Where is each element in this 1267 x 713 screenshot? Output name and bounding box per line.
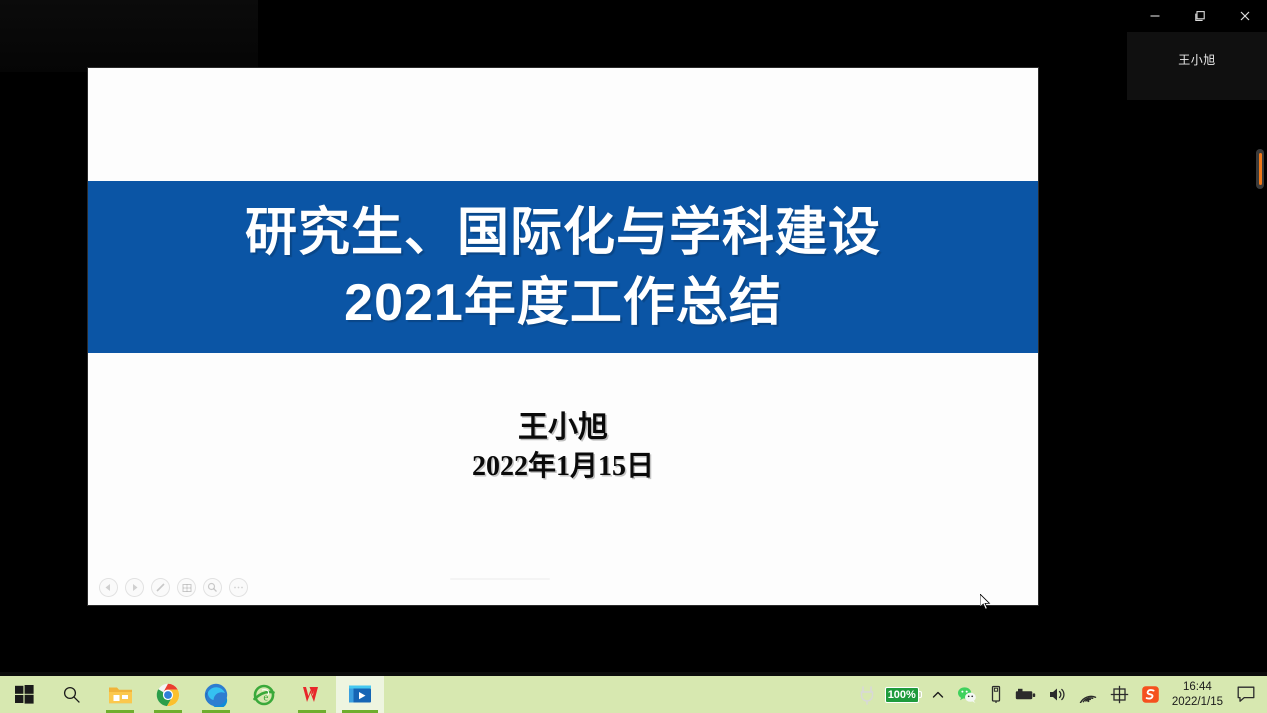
tray-power-plug[interactable] xyxy=(853,676,882,713)
svg-text:e: e xyxy=(263,691,268,703)
speech-bubble-icon xyxy=(1237,686,1255,703)
slideshow-control-bar[interactable] xyxy=(93,574,254,601)
minimize-button[interactable] xyxy=(1132,0,1177,32)
windows-logo-icon xyxy=(15,685,34,704)
ie-icon: e xyxy=(252,683,276,707)
maximize-button[interactable] xyxy=(1177,0,1222,32)
slide-top-whitespace xyxy=(88,68,1038,181)
clock-time: 16:44 xyxy=(1183,680,1212,695)
wifi-icon xyxy=(1079,687,1098,703)
edge-scroll-indicator-fill xyxy=(1259,153,1262,185)
next-slide-button[interactable] xyxy=(125,578,144,597)
search-button[interactable] xyxy=(48,676,96,713)
search-icon xyxy=(62,685,82,705)
pen-tool-button[interactable] xyxy=(151,578,170,597)
ime-chinese-icon xyxy=(1110,685,1129,704)
battery-solid-icon xyxy=(1015,688,1036,702)
tray-show-hidden-icons[interactable] xyxy=(925,676,951,713)
video-panel-titlebar xyxy=(1127,0,1267,32)
tray-battery-status[interactable] xyxy=(1009,676,1042,713)
taskbar-app-media-player[interactable] xyxy=(336,676,384,713)
battery-tip-icon xyxy=(919,691,922,698)
screen-root: 研究生、国际化与学科建设 2021年度工作总结 王小旭 2022年1月15日 xyxy=(0,0,1267,713)
usb-icon xyxy=(989,685,1003,704)
slide-date: 2022年1月15日 xyxy=(88,448,1038,486)
tray-volume[interactable] xyxy=(1042,676,1073,713)
presentation-slide[interactable]: 研究生、国际化与学科建设 2021年度工作总结 王小旭 2022年1月15日 xyxy=(88,68,1038,605)
edge-scroll-indicator[interactable] xyxy=(1256,149,1264,189)
wechat-icon xyxy=(957,686,977,704)
wps-icon xyxy=(300,684,325,706)
media-player-icon xyxy=(347,683,373,707)
taskbar-app-google-chrome[interactable] xyxy=(144,676,192,713)
video-conference-panel[interactable]: 王小旭 xyxy=(1127,0,1267,100)
taskbar: e xyxy=(0,676,1267,713)
tray-battery-percent[interactable]: 100% xyxy=(882,676,925,713)
tray-wechat[interactable] xyxy=(951,676,983,713)
zoom-tool-button[interactable] xyxy=(203,578,222,597)
slide-faint-divider xyxy=(450,578,550,580)
taskbar-app-area: e xyxy=(0,676,384,713)
close-button[interactable] xyxy=(1222,0,1267,32)
taskbar-app-microsoft-edge[interactable] xyxy=(192,676,240,713)
tray-input-method[interactable] xyxy=(1104,676,1135,713)
previous-slide-button[interactable] xyxy=(99,578,118,597)
battery-percent-label: 100% xyxy=(885,687,919,703)
slide-title-banner: 研究生、国际化与学科建设 2021年度工作总结 xyxy=(88,181,1038,353)
video-panel-body[interactable]: 王小旭 xyxy=(1127,32,1267,100)
desktop-top-shade xyxy=(0,0,258,72)
chrome-icon xyxy=(156,683,180,707)
slide-title-line-1: 研究生、国际化与学科建设 xyxy=(245,199,881,267)
taskbar-app-internet-explorer[interactable]: e xyxy=(240,676,288,713)
tray-network-wifi[interactable] xyxy=(1073,676,1104,713)
power-plug-icon xyxy=(859,685,876,705)
slide-subtitle-block: 王小旭 2022年1月15日 xyxy=(88,408,1038,486)
speaker-icon xyxy=(1048,686,1067,703)
tray-sogou-input[interactable] xyxy=(1135,676,1166,713)
taskbar-clock[interactable]: 16:44 2022/1/15 xyxy=(1166,676,1231,713)
chevron-up-icon xyxy=(931,688,945,702)
system-tray: 100% xyxy=(853,676,1267,713)
slide-author-name: 王小旭 xyxy=(88,408,1038,448)
tray-usb-device[interactable] xyxy=(983,676,1009,713)
action-center-button[interactable] xyxy=(1231,676,1265,713)
clock-date: 2022/1/15 xyxy=(1172,695,1223,710)
taskbar-app-file-explorer[interactable] xyxy=(96,676,144,713)
video-participant-name: 王小旭 xyxy=(1178,51,1216,68)
more-options-button[interactable] xyxy=(229,578,248,597)
sogou-icon xyxy=(1141,685,1160,704)
slide-title-line-2: 2021年度工作总结 xyxy=(344,269,782,337)
edge-icon xyxy=(204,683,228,707)
start-button[interactable] xyxy=(0,676,48,713)
taskbar-app-wps-office[interactable] xyxy=(288,676,336,713)
all-slides-button[interactable] xyxy=(177,578,196,597)
folder-icon xyxy=(108,684,133,706)
